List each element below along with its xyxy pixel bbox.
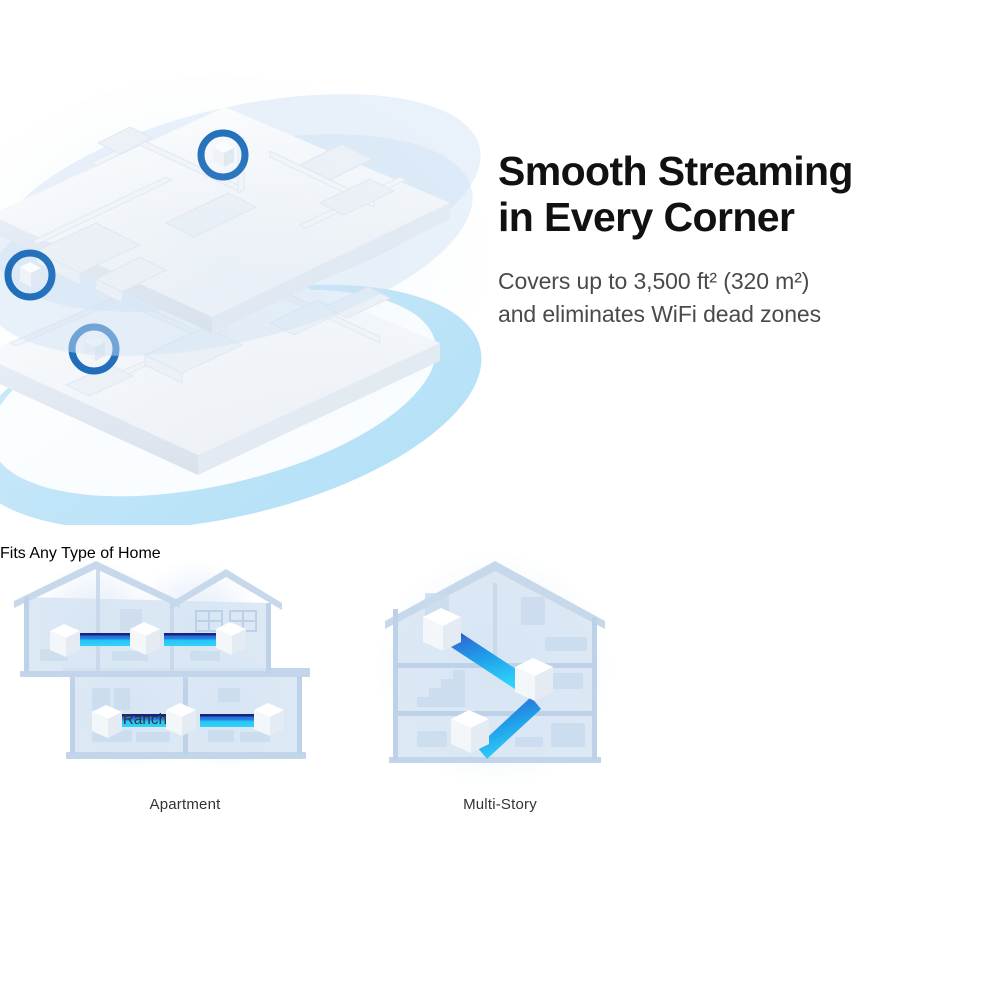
mesh-unit-bottom-floor — [451, 710, 489, 753]
mesh-beam-2 — [164, 633, 220, 646]
floorplan-svg — [0, 55, 490, 525]
multistory-illustration — [355, 545, 645, 790]
home-type-multistory: Multi-Story — [355, 545, 645, 813]
hero-text-block: Smooth Streaming in Every Corner Covers … — [498, 148, 968, 331]
mesh-unit-middle-floor — [515, 658, 553, 701]
hero-section: Smooth Streaming in Every Corner Covers … — [0, 0, 1000, 545]
home-type-label-multistory: Multi-Story — [355, 796, 645, 813]
mesh-unit-top-floor — [423, 608, 461, 651]
ranch-illustration — [0, 545, 290, 705]
home-type-label-ranch: Ranch — [0, 711, 290, 728]
home-types-section: Apartment — [0, 545, 1000, 1000]
floorplan-illustration — [0, 55, 490, 525]
hero-subtitle: Covers up to 3,500 ft² (320 m²) and elim… — [498, 265, 968, 331]
home-type-ranch: Ranch — [0, 545, 290, 728]
page-title: Smooth Streaming in Every Corner — [498, 148, 968, 240]
home-type-label-apartment: Apartment — [40, 796, 330, 813]
mesh-beam-1 — [78, 633, 134, 646]
